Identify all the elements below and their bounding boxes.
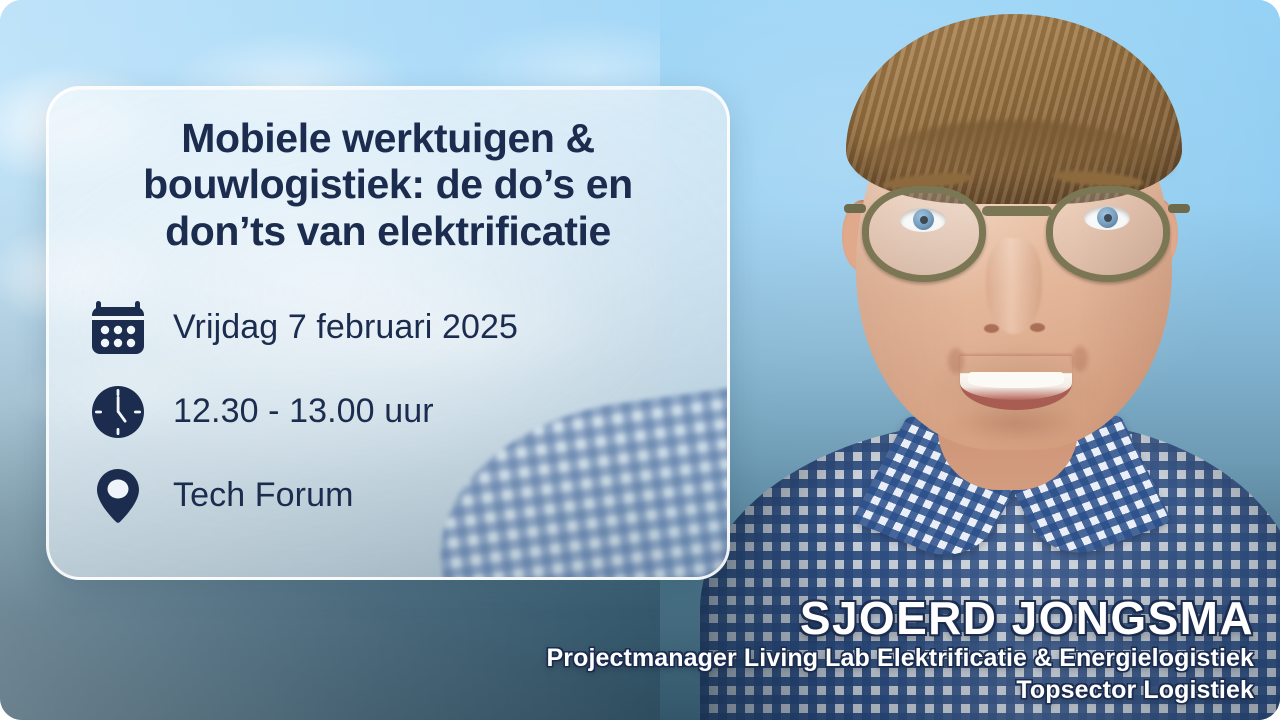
event-time-label: 12.30 - 13.00 uur bbox=[173, 392, 434, 431]
event-details-list: Vrijdag 7 februari 2025 bbox=[83, 286, 693, 538]
speaker-credit: SJOERD JONGSMA Projectmanager Living Lab… bbox=[334, 595, 1254, 706]
smile-line-right bbox=[1072, 346, 1088, 372]
mouth-smiling bbox=[960, 356, 1072, 410]
event-detail-time: 12.30 - 13.00 uur bbox=[89, 370, 693, 454]
lens-left bbox=[862, 186, 986, 282]
speaker-role: Projectmanager Living Lab Elektrificatie… bbox=[334, 643, 1254, 675]
chin-shadow bbox=[946, 404, 1086, 444]
speaker-name: SJOERD JONGSMA bbox=[334, 595, 1254, 643]
glasses-bridge bbox=[982, 206, 1052, 216]
event-detail-date: Vrijdag 7 februari 2025 bbox=[89, 286, 693, 370]
event-location-label: Tech Forum bbox=[173, 476, 354, 515]
nose bbox=[986, 238, 1042, 334]
calendar-icon bbox=[89, 299, 147, 357]
lens-right bbox=[1046, 186, 1170, 282]
glasses-temple-right bbox=[1168, 204, 1190, 213]
smile-line-left bbox=[948, 348, 964, 374]
promo-graphic: Mobiele werktuigen & bouwlogistiek: de d… bbox=[0, 0, 1280, 720]
event-title: Mobiele werktuigen & bouwlogistiek: de d… bbox=[83, 115, 693, 254]
event-info-card: Mobiele werktuigen & bouwlogistiek: de d… bbox=[46, 86, 730, 580]
event-date-label: Vrijdag 7 februari 2025 bbox=[173, 308, 518, 347]
clock-icon bbox=[89, 383, 147, 441]
speaker-organization: Topsector Logistiek bbox=[334, 675, 1254, 707]
event-detail-location: Tech Forum bbox=[89, 454, 693, 538]
glasses-temple-left bbox=[844, 204, 866, 213]
location-pin-icon bbox=[89, 467, 147, 525]
teeth bbox=[968, 372, 1064, 388]
